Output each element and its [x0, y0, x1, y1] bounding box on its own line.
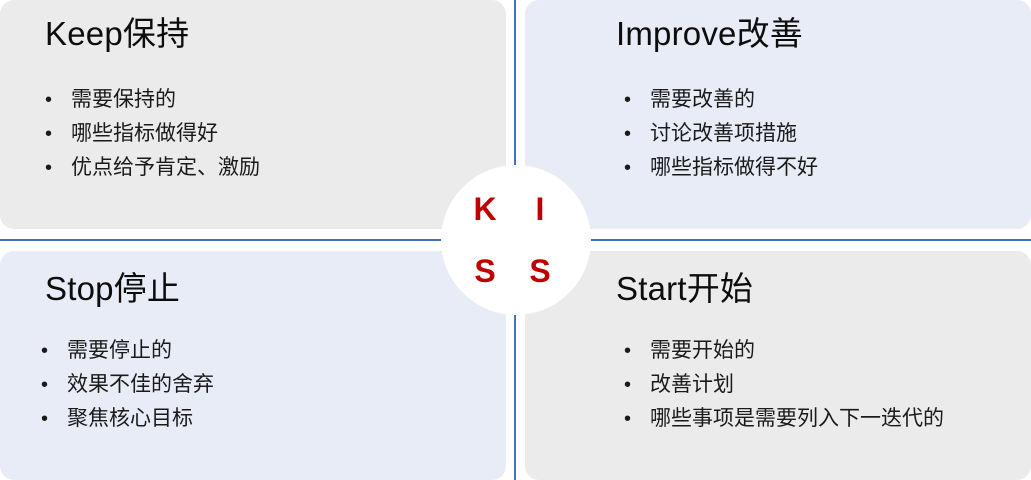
list-item-label: 哪些指标做得好: [71, 121, 218, 146]
list-item: • 聚焦核心目标: [41, 406, 214, 440]
bullet-icon: •: [45, 158, 71, 178]
list-item-label: 需要改善的: [650, 87, 755, 112]
quadrant-start-title: Start开始: [616, 271, 753, 307]
list-item: • 效果不佳的舍弃: [41, 372, 214, 406]
bullet-icon: •: [41, 341, 67, 361]
quadrant-stop-title: Stop停止: [45, 271, 180, 307]
list-item-label: 需要保持的: [71, 87, 176, 112]
kiss-letter-k: K: [470, 193, 500, 225]
bullet-icon: •: [41, 375, 67, 395]
quadrant-stop-list: • 需要停止的 • 效果不佳的舍弃 • 聚焦核心目标: [41, 338, 214, 440]
list-item-label: 效果不佳的舍弃: [67, 372, 214, 397]
bullet-icon: •: [624, 158, 650, 178]
list-item-label: 哪些指标做得不好: [650, 155, 818, 180]
quadrant-improve-title: Improve改善: [616, 16, 803, 52]
bullet-icon: •: [624, 90, 650, 110]
quadrant-improve-list: • 需要改善的 • 讨论改善项措施 • 哪些指标做得不好: [624, 87, 818, 189]
bullet-icon: •: [45, 90, 71, 110]
kiss-letter-s1: S: [470, 255, 500, 287]
kiss-retrospective-diagram: Keep保持 • 需要保持的 • 哪些指标做得好 • 优点给予肯定、激励 Imp…: [0, 0, 1031, 480]
bullet-icon: •: [624, 375, 650, 395]
bullet-icon: •: [624, 409, 650, 429]
quadrant-improve[interactable]: Improve改善 • 需要改善的 • 讨论改善项措施 • 哪些指标做得不好: [525, 0, 1031, 229]
list-item-label: 聚焦核心目标: [67, 406, 193, 431]
bullet-icon: •: [624, 124, 650, 144]
list-item: • 改善计划: [624, 372, 944, 406]
bullet-icon: •: [624, 341, 650, 361]
list-item-label: 讨论改善项措施: [650, 121, 797, 146]
center-circle: [441, 165, 591, 315]
kiss-letter-i: I: [525, 193, 555, 225]
list-item: • 讨论改善项措施: [624, 121, 818, 155]
list-item-label: 优点给予肯定、激励: [71, 155, 260, 180]
list-item: • 优点给予肯定、激励: [45, 155, 260, 189]
bullet-icon: •: [41, 409, 67, 429]
list-item-label: 改善计划: [650, 372, 734, 397]
list-item-label: 需要开始的: [650, 338, 755, 363]
quadrant-keep-list: • 需要保持的 • 哪些指标做得好 • 优点给予肯定、激励: [45, 87, 260, 189]
list-item: • 哪些事项是需要列入下一迭代的: [624, 406, 944, 440]
list-item: • 需要开始的: [624, 338, 944, 372]
list-item: • 哪些指标做得不好: [624, 155, 818, 189]
list-item: • 需要停止的: [41, 338, 214, 372]
list-item-label: 需要停止的: [67, 338, 172, 363]
quadrant-start[interactable]: Start开始 • 需要开始的 • 改善计划 • 哪些事项是需要列入下一迭代的: [525, 251, 1031, 480]
bullet-icon: •: [45, 124, 71, 144]
list-item: • 需要改善的: [624, 87, 818, 121]
list-item: • 哪些指标做得好: [45, 121, 260, 155]
quadrant-start-list: • 需要开始的 • 改善计划 • 哪些事项是需要列入下一迭代的: [624, 338, 944, 440]
quadrant-keep-title: Keep保持: [45, 16, 189, 52]
list-item-label: 哪些事项是需要列入下一迭代的: [650, 406, 944, 431]
list-item: • 需要保持的: [45, 87, 260, 121]
kiss-letter-s2: S: [525, 255, 555, 287]
